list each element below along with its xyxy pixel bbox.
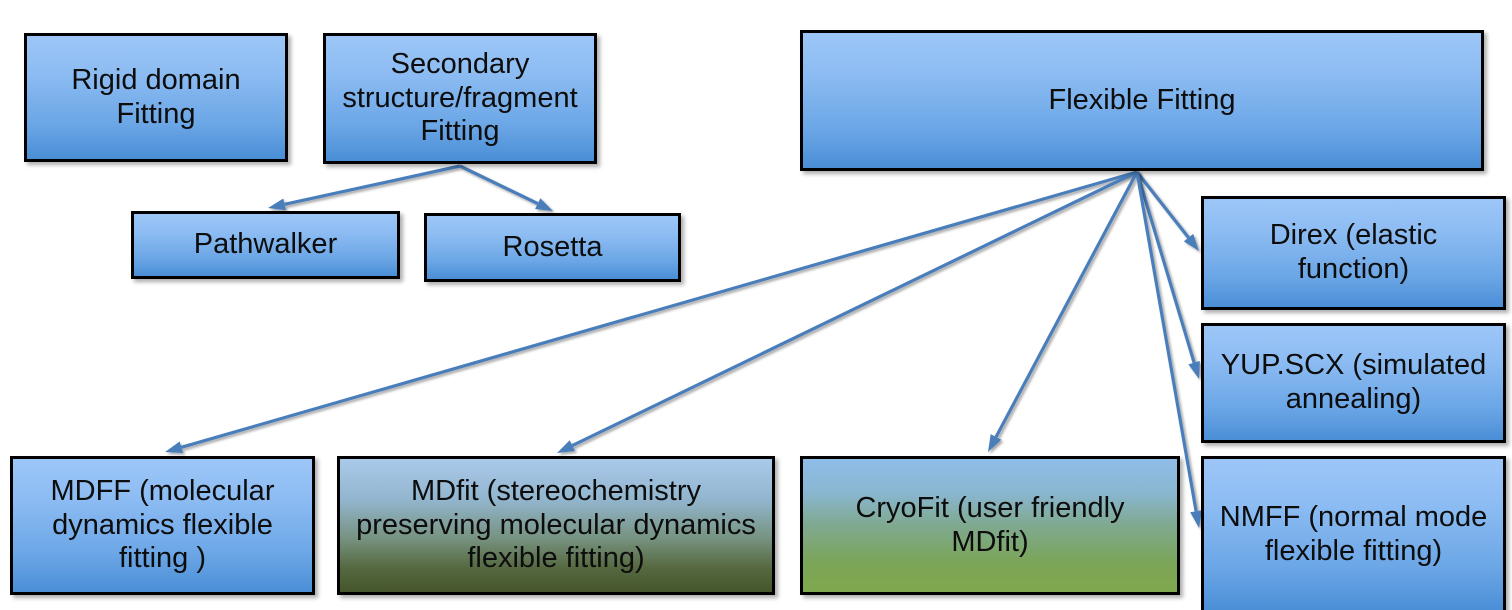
node-yup-scx[interactable]: YUP.SCX (simulated annealing) bbox=[1201, 323, 1506, 443]
node-flexible-fitting[interactable]: Flexible Fitting bbox=[800, 30, 1484, 171]
arrow-flexible-to-cryofit bbox=[988, 172, 1137, 452]
node-cryofit[interactable]: CryoFit (user friendly MDfit) bbox=[800, 456, 1180, 595]
node-label-secondary-structure-fitting: Secondary structure/fragment Fitting bbox=[332, 48, 588, 149]
node-label-mdfit: MDfit (stereochemistry preserving molecu… bbox=[346, 475, 766, 576]
diagram-canvas: Rigid domain FittingSecondary structure/… bbox=[0, 0, 1512, 610]
node-label-yup-scx: YUP.SCX (simulated annealing) bbox=[1210, 349, 1497, 416]
node-label-cryofit: CryoFit (user friendly MDfit) bbox=[809, 492, 1171, 559]
arrow-secondary-to-pathwalker bbox=[268, 166, 460, 210]
node-secondary-structure-fitting[interactable]: Secondary structure/fragment Fitting bbox=[323, 33, 597, 164]
arrow-secondary-to-rosetta bbox=[460, 166, 553, 211]
node-label-pathwalker: Pathwalker bbox=[140, 228, 391, 262]
node-nmff[interactable]: NMFF (normal mode flexible fitting) bbox=[1201, 456, 1506, 610]
node-label-direx: Direx (elastic function) bbox=[1210, 219, 1497, 286]
node-direx[interactable]: Direx (elastic function) bbox=[1201, 196, 1506, 310]
node-rosetta[interactable]: Rosetta bbox=[424, 213, 681, 282]
node-rigid-domain-fitting[interactable]: Rigid domain Fitting bbox=[24, 33, 288, 162]
node-label-rigid-domain-fitting: Rigid domain Fitting bbox=[33, 64, 279, 131]
node-label-mdff: MDFF (molecular dynamics flexible fittin… bbox=[19, 475, 306, 576]
node-pathwalker[interactable]: Pathwalker bbox=[131, 211, 400, 279]
node-label-rosetta: Rosetta bbox=[433, 231, 672, 265]
node-mdff[interactable]: MDFF (molecular dynamics flexible fittin… bbox=[10, 456, 315, 595]
node-label-flexible-fitting: Flexible Fitting bbox=[809, 84, 1475, 118]
arrow-flexible-to-direx bbox=[1137, 172, 1199, 251]
node-mdfit[interactable]: MDfit (stereochemistry preserving molecu… bbox=[337, 456, 775, 595]
arrow-flexible-to-yupscx bbox=[1137, 172, 1200, 379]
node-label-nmff: NMFF (normal mode flexible fitting) bbox=[1210, 501, 1497, 568]
